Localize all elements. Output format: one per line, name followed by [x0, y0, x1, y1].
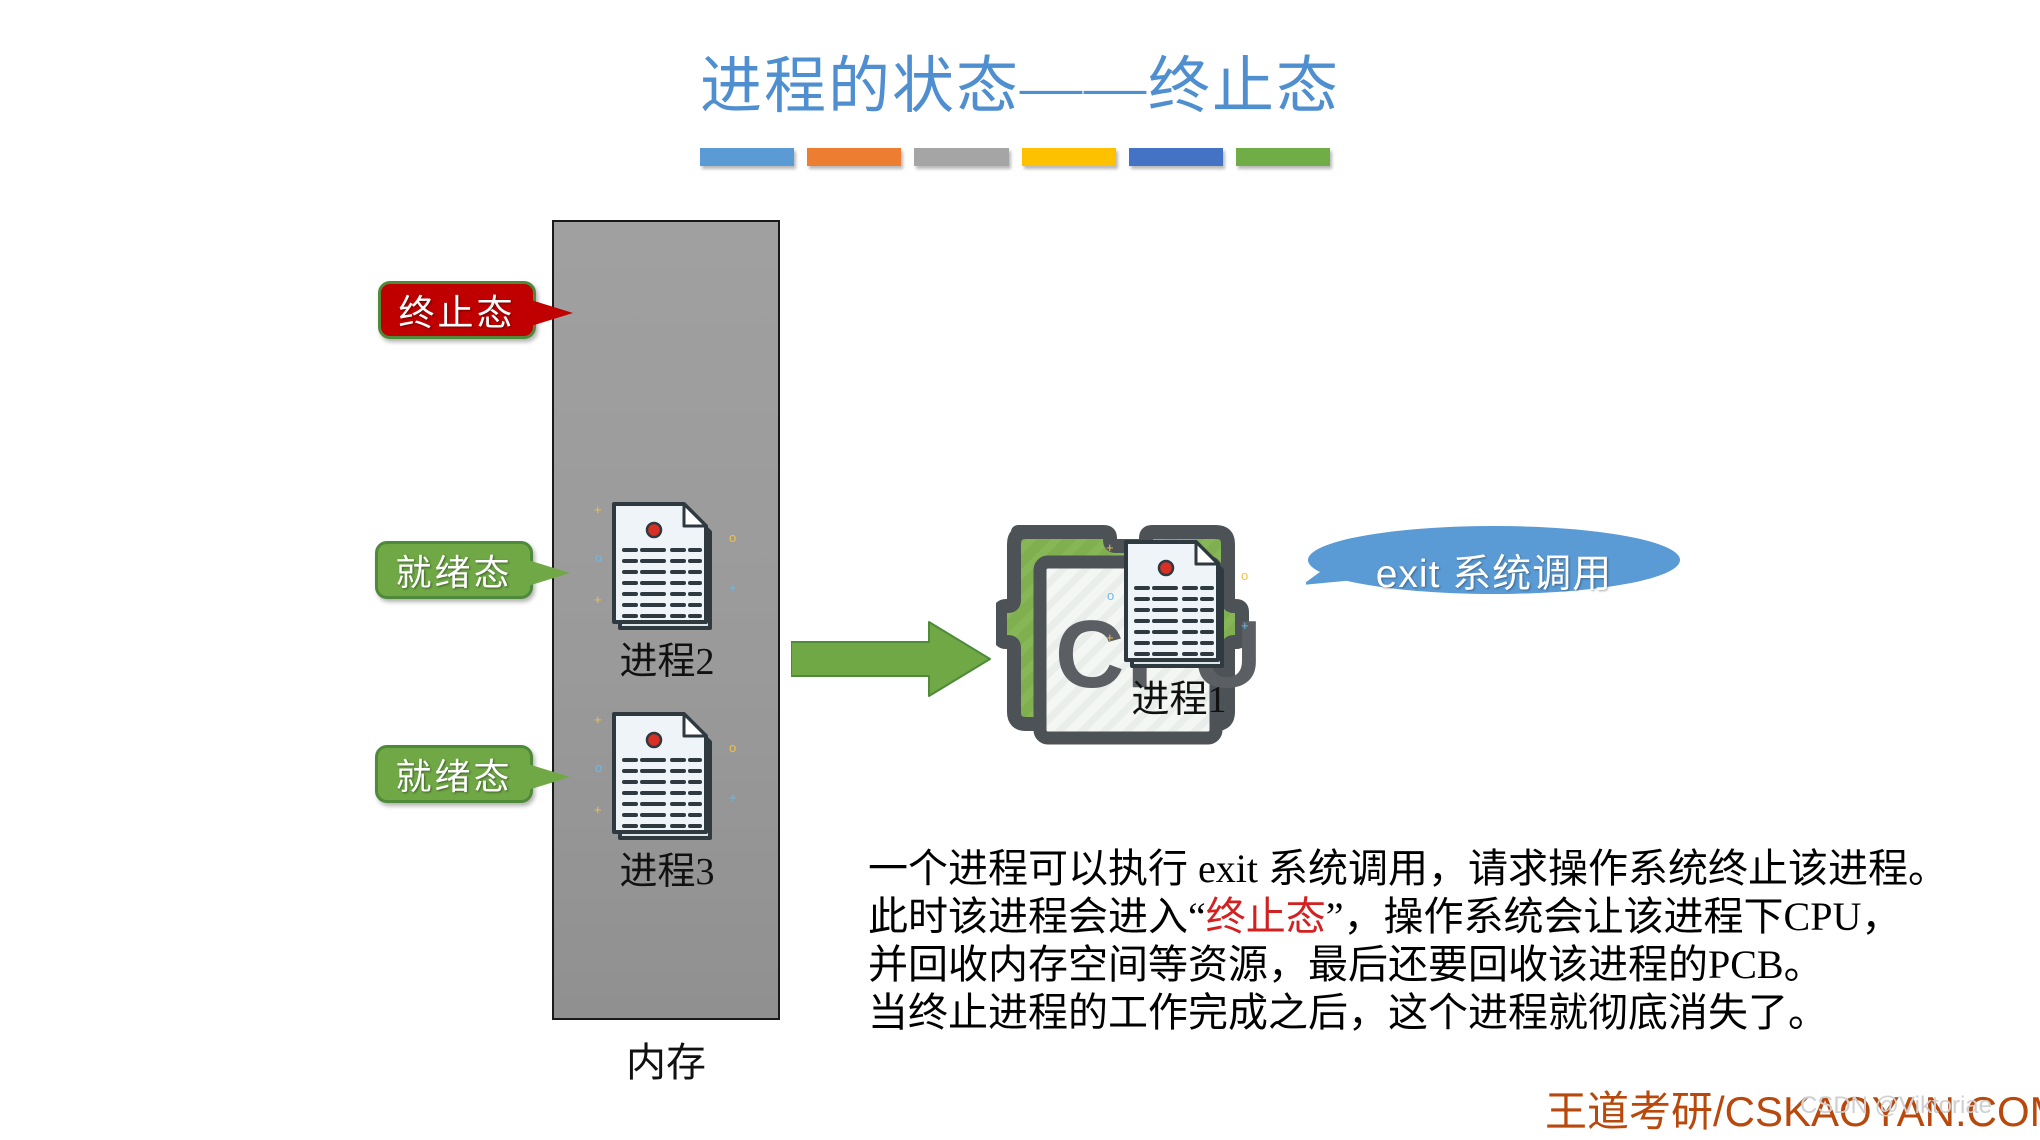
underline-bar-1 — [700, 148, 794, 166]
callout-ready-2-label: 就绪态 — [395, 748, 512, 800]
underline-bar-5 — [1129, 148, 1223, 166]
process-2-item: + + o o + — [592, 498, 742, 683]
memory-label: 内存 — [552, 1030, 780, 1088]
body-line-2-after: ”，操作系统会让该进程下CPU， — [1326, 894, 1902, 939]
slide-canvas: 进程的状态——终止态 内存 终止态 就绪态 就绪态 + + o o — [0, 0, 2040, 1140]
process-1-label: 进程1 — [1104, 668, 1254, 723]
svg-text:+: + — [594, 502, 602, 517]
body-line-2-before: 此时该进程会进入“ — [868, 894, 1206, 939]
svg-text:o: o — [729, 530, 736, 545]
svg-text:o: o — [1241, 568, 1248, 583]
page-title: 进程的状态——终止态 — [0, 50, 2040, 124]
body-line-2: 此时该进程会进入“终止态”，操作系统会让该进程下CPU， — [868, 893, 1978, 941]
svg-text:+: + — [594, 712, 602, 727]
speech-bubble-label: exit 系统调用 — [1306, 543, 1682, 599]
body-line-2-highlight: 终止态 — [1206, 894, 1326, 939]
svg-text:+: + — [594, 802, 602, 817]
underline-bar-3 — [914, 148, 1008, 166]
document-icon: + + o o + — [592, 498, 742, 638]
callout-tail-icon — [528, 764, 570, 790]
process-2-label: 进程2 — [592, 630, 742, 685]
green-right-arrow-icon — [791, 620, 991, 698]
process-1-item: + + o o + — [1104, 536, 1254, 721]
svg-text:o: o — [595, 550, 602, 565]
svg-text:+: + — [729, 580, 737, 595]
underline-bar-6 — [1236, 148, 1330, 166]
process-3-label: 进程3 — [592, 840, 742, 895]
title-underline-bars — [700, 148, 1330, 166]
svg-text:o: o — [1107, 588, 1114, 603]
body-line-1: 一个进程可以执行 exit 系统调用，请求操作系统终止该进程。 — [868, 845, 1978, 893]
callout-ready-1-label: 就绪态 — [395, 544, 512, 596]
svg-text:o: o — [595, 760, 602, 775]
svg-text:+: + — [1106, 540, 1114, 555]
callout-ready-state-1: 就绪态 — [375, 541, 533, 599]
body-line-4: 当终止进程的工作完成之后，这个进程就彻底消失了。 — [868, 989, 1978, 1037]
svg-text:+: + — [729, 790, 737, 805]
document-icon: + + o o + — [592, 708, 742, 848]
underline-bar-4 — [1022, 148, 1116, 166]
callout-tail-icon — [531, 300, 573, 326]
underline-bar-2 — [807, 148, 901, 166]
svg-text:+: + — [1106, 630, 1114, 645]
callout-tail-icon — [528, 560, 570, 586]
svg-text:+: + — [594, 592, 602, 607]
process-3-item: + + o o + — [592, 708, 742, 893]
csdn-watermark: CSDN @Viktoriae — [1800, 1092, 1992, 1120]
body-line-3: 并回收内存空间等资源，最后还要回收该进程的PCB。 — [868, 941, 1978, 989]
body-paragraph: 一个进程可以执行 exit 系统调用，请求操作系统终止该进程。 此时该进程会进入… — [868, 845, 1978, 1037]
svg-text:+: + — [1241, 618, 1249, 633]
callout-ready-state-2: 就绪态 — [375, 745, 533, 803]
callout-terminated-label: 终止态 — [398, 284, 515, 336]
callout-terminated-state: 终止态 — [378, 281, 536, 339]
svg-text:o: o — [729, 740, 736, 755]
document-icon: + + o o + — [1104, 536, 1254, 676]
